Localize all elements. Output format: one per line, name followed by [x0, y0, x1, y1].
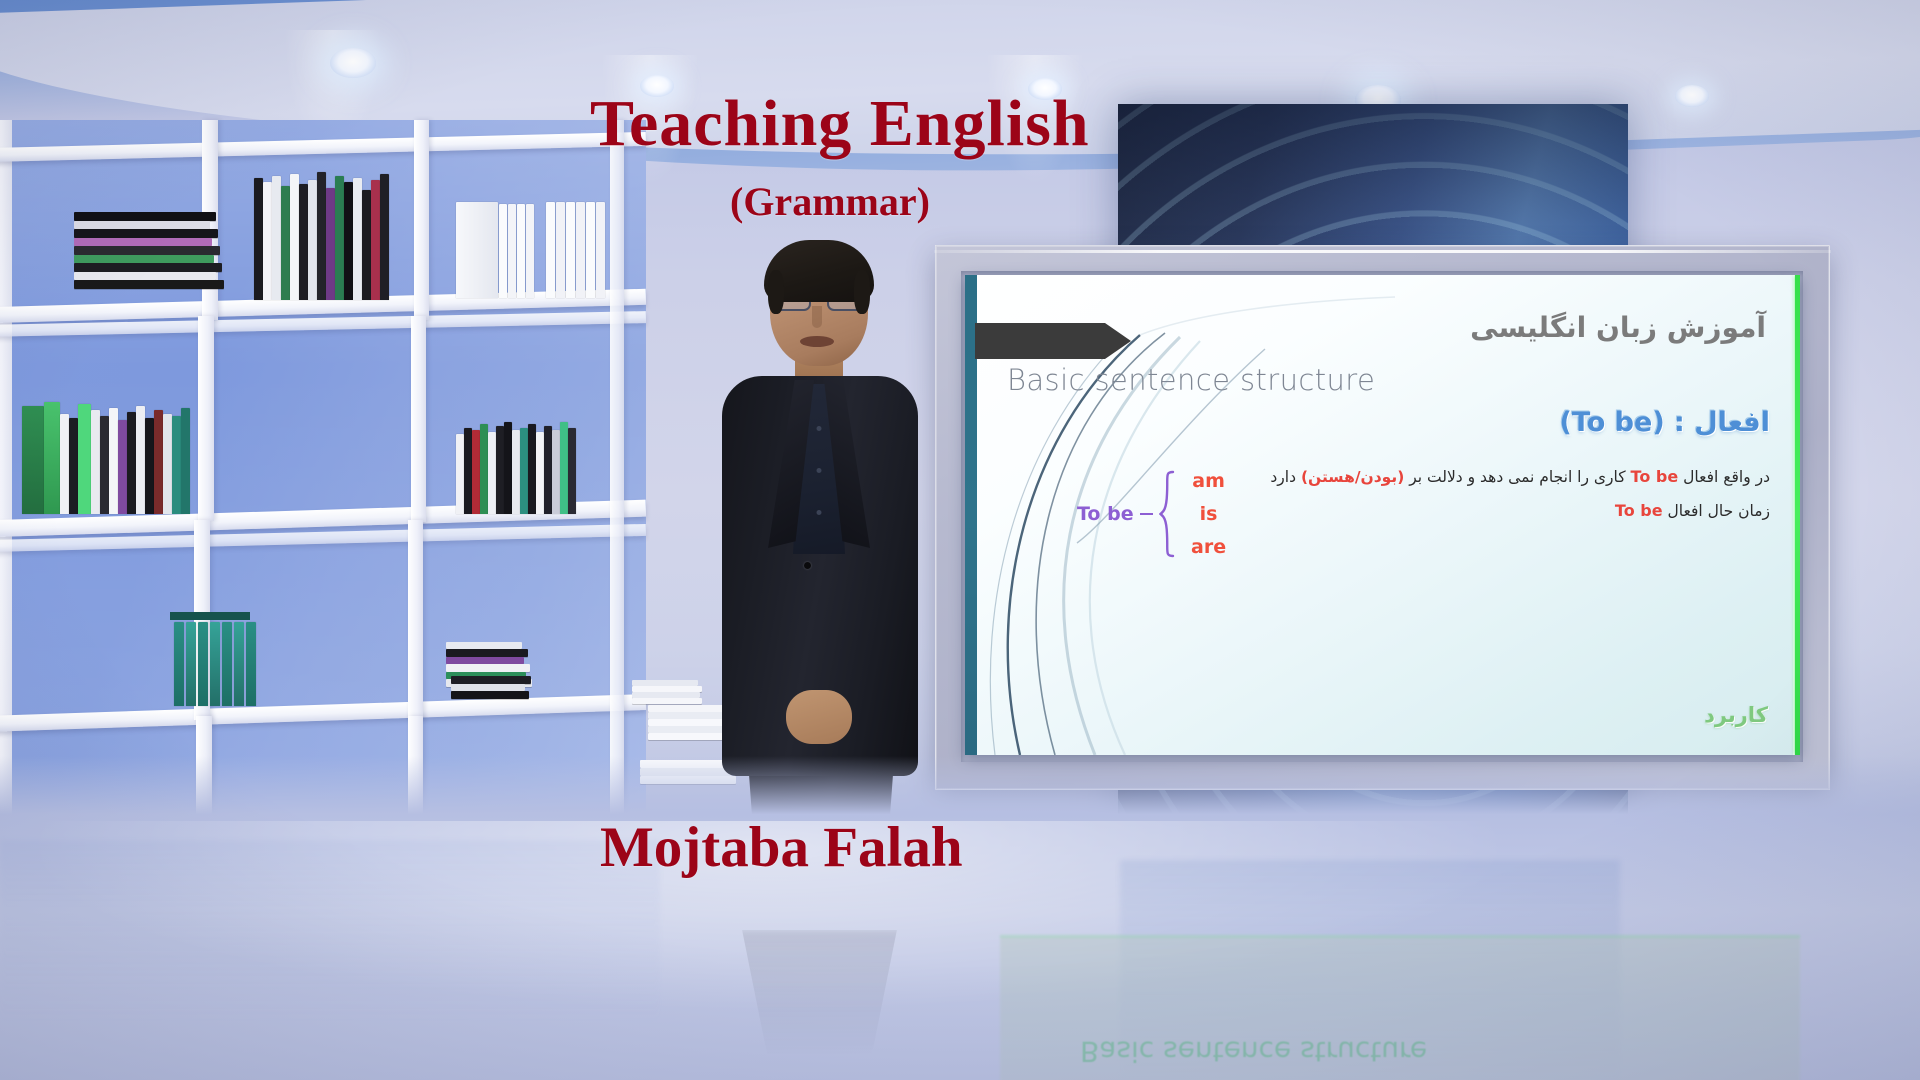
slide-subtitle-reflection: Basic sentence structure — [1080, 1035, 1427, 1068]
bookshelf — [0, 120, 646, 830]
shelf-divider — [408, 520, 423, 720]
studio-scene: Basic sentence structure آموزش زبان انگل… — [0, 0, 1920, 1080]
shelf-divider — [610, 120, 624, 836]
slide-section-title: افعال : (To be) — [1560, 407, 1770, 438]
presenter-lapel-mic — [804, 562, 811, 569]
body-l1-highlight: (بودن/هستن) — [1301, 468, 1404, 486]
presenter-name-caption: Mojtaba Falah — [600, 815, 963, 880]
slide-heading-persian: آموزش زبان انگلیسی — [1470, 311, 1766, 344]
slide-body-line-1: در واقع افعال To be کاری را انجام نمی ده… — [1210, 460, 1770, 494]
to-be-label: To be — [1077, 503, 1134, 525]
ceiling-light-1 — [330, 48, 376, 78]
book-box-lid — [170, 612, 250, 620]
shelf-divider — [198, 316, 214, 521]
presenter-nose — [812, 306, 822, 328]
body-l1-english: To be — [1631, 460, 1679, 494]
slide-right-accent-bar — [1795, 275, 1800, 755]
monitor-top-highlight — [934, 250, 1831, 253]
book-stack — [74, 212, 224, 289]
page-subtitle: (Grammar) — [730, 178, 930, 225]
to-be-connector-dash — [1140, 513, 1153, 515]
slide-body-line-2: زمان حال افعال To be — [1210, 494, 1770, 528]
ceiling-light-5 — [1675, 85, 1709, 107]
paper-stack — [632, 680, 702, 704]
body-l1-post: دارد — [1270, 468, 1301, 486]
to-be-forms-list: am is are — [1181, 470, 1235, 558]
presenter-mouth — [800, 336, 834, 347]
book-box-set — [456, 198, 534, 298]
body-l2-pre: زمان حال افعال — [1663, 502, 1770, 520]
shelf-divider — [414, 120, 429, 320]
to-be-form-is: is — [1183, 503, 1235, 525]
presenter-hair — [764, 240, 874, 302]
shelf-divider — [411, 316, 426, 522]
book-row — [456, 420, 576, 514]
book-box-set — [546, 198, 605, 298]
to-be-diagram: To be am is are — [1077, 470, 1235, 558]
to-be-form-are: are — [1183, 536, 1235, 558]
page-title: Teaching English — [590, 86, 1090, 162]
book-row — [254, 172, 389, 300]
book-box-set — [174, 618, 256, 706]
slide-body-text: در واقع افعال To be کاری را انجام نمی ده… — [1210, 460, 1770, 527]
curly-brace-icon — [1159, 470, 1175, 558]
slide-banner-arrow — [975, 323, 1105, 359]
body-l1-mid: کاری را انجام نمی دهد و دلالت بر — [1404, 468, 1630, 486]
body-l2-english: To be — [1615, 494, 1663, 528]
presenter-clasped-hands — [786, 690, 852, 744]
slide-footer-persian: کاربرد — [1704, 703, 1768, 727]
to-be-form-am: am — [1183, 470, 1235, 492]
slide-subtitle: Basic sentence structure — [1007, 363, 1375, 397]
book-row — [22, 402, 190, 514]
presentation-slide[interactable]: Basic sentence structure آموزش زبان انگل… — [965, 275, 1800, 755]
body-l1-pre: در واقع افعال — [1678, 468, 1770, 486]
book-stack — [451, 676, 531, 699]
